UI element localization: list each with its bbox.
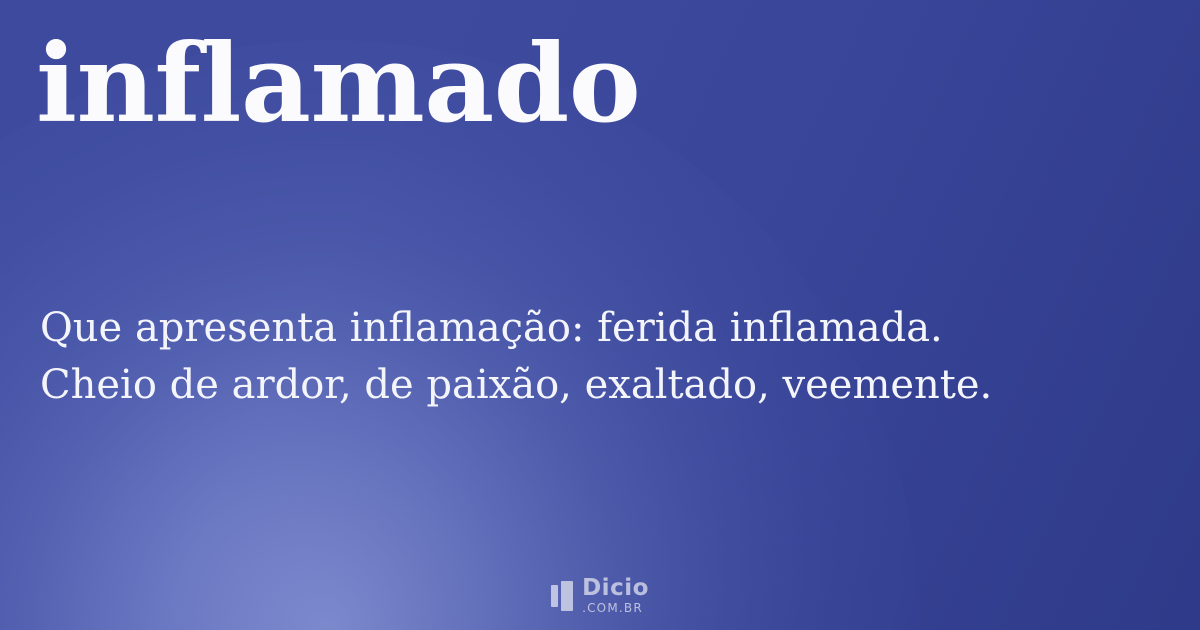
- site-logo[interactable]: Dicio .COM.BR: [0, 577, 1200, 614]
- logo-tld: .COM.BR: [582, 602, 649, 614]
- logo-name: Dicio: [582, 577, 649, 600]
- entry-word: inflamado: [36, 26, 640, 143]
- definition-line-2: Cheio de ardor, de paixão, exaltado, vee…: [40, 357, 1150, 414]
- definition-line-1: Que apresenta inflamação: ferida inflama…: [40, 300, 1150, 357]
- logo-text: Dicio .COM.BR: [582, 577, 649, 614]
- two-bars-icon: [551, 581, 573, 611]
- card-content: inflamado Que apresenta inflamação: feri…: [0, 0, 1200, 630]
- entry-definition: Que apresenta inflamação: ferida inflama…: [40, 300, 1150, 414]
- dictionary-entry-card: inflamado Que apresenta inflamação: feri…: [0, 0, 1200, 630]
